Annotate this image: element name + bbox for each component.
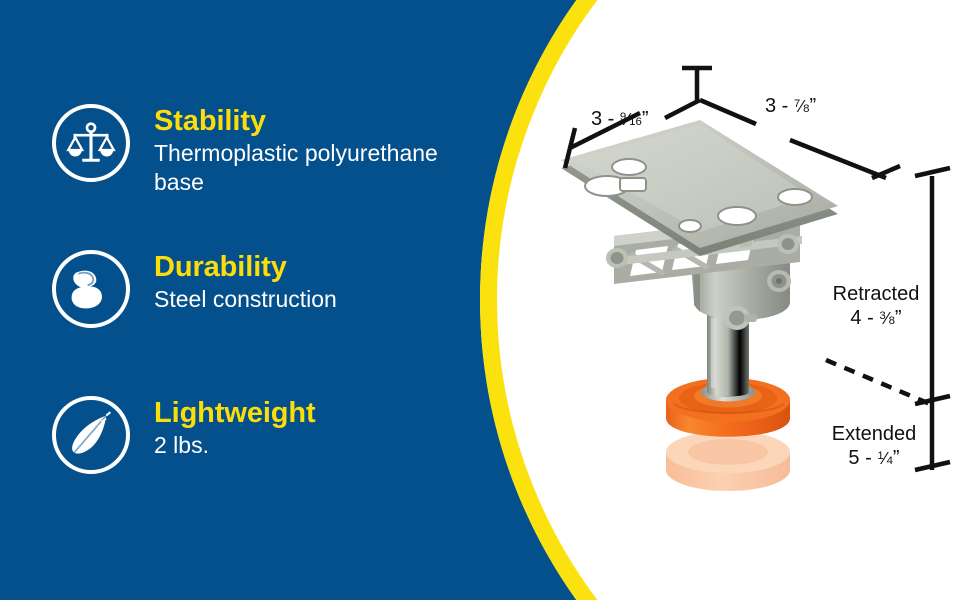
flexed-bicep-icon xyxy=(52,250,130,328)
feature-description: Thermoplastic polyurethane base xyxy=(154,139,438,197)
feature-durability: Durability Steel construction xyxy=(52,250,337,328)
dimension-label-top-left: 3 - 9⁄16” xyxy=(591,108,649,132)
feature-text: Durability Steel construction xyxy=(154,250,337,314)
feature-text: Stability Thermoplastic polyurethane bas… xyxy=(154,104,438,197)
balance-scale-icon xyxy=(52,104,130,182)
feature-title: Durability xyxy=(154,252,337,283)
feature-lightweight: Lightweight 2 lbs. xyxy=(52,396,316,474)
feature-stability: Stability Thermoplastic polyurethane bas… xyxy=(52,104,438,197)
dimension-label-extended: Extended 5 - 1⁄4” xyxy=(824,423,924,470)
feature-text: Lightweight 2 lbs. xyxy=(154,396,316,460)
feature-title: Lightweight xyxy=(154,398,316,429)
feature-description: 2 lbs. xyxy=(154,431,316,460)
infographic-canvas: Stability Thermoplastic polyurethane bas… xyxy=(0,0,970,600)
dimension-label-retracted: Retracted 4 - 3⁄8” xyxy=(828,283,924,330)
feature-description: Steel construction xyxy=(154,285,337,314)
feature-title: Stability xyxy=(154,106,438,137)
dimension-label-top-right: 3 - 7⁄8” xyxy=(765,95,816,119)
feather-icon xyxy=(52,396,130,474)
